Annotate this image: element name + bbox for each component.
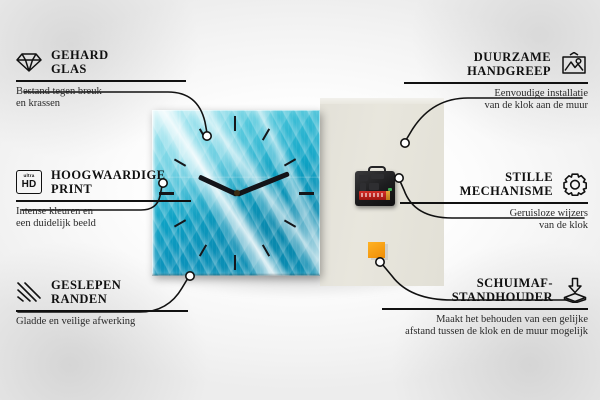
clock-mechanism: [355, 166, 395, 206]
foam-spacer-pad: [368, 242, 385, 258]
gear-icon: [562, 172, 588, 196]
diagonal-lines-icon: [16, 281, 42, 303]
ultra-hd-label: HD: [22, 180, 37, 190]
feature-description: Intense kleuren en een duidelijk beeld: [16, 206, 201, 231]
feature-title: HOOGWAARDIGE PRINT: [51, 168, 165, 196]
feature-duurzame-handgreep[interactable]: DUURZAME HANDGREEP Eenvoudige installati…: [404, 50, 588, 112]
feature-description: Eenvoudige installatie van de klok aan d…: [404, 88, 588, 113]
clock-tick: [299, 192, 314, 195]
clock-tick: [234, 116, 236, 131]
mechanism-housing: [355, 171, 395, 206]
clock-centre-hub: [234, 190, 240, 196]
diamond-icon: [16, 51, 42, 73]
clock-tick: [234, 255, 236, 270]
down-arrow-spacer-icon: [562, 277, 588, 303]
feature-title: GEHARD GLAS: [51, 48, 109, 76]
feature-description: Bestand tegen breuk en krassen: [16, 86, 196, 111]
feature-schuimafstandhouder[interactable]: SCHUIMAF- STANDHOUDER Maakt het behouden…: [382, 276, 588, 338]
infographic-canvas: GEHARD GLAS Bestand tegen breuk en krass…: [0, 0, 600, 400]
feature-description: Gladde en veilige afwerking: [16, 316, 196, 328]
battery-positive-cap: [386, 191, 390, 200]
feature-divider: [16, 80, 186, 82]
feature-divider: [400, 202, 588, 204]
feature-title: DUURZAME HANDGREEP: [467, 50, 551, 78]
feature-title: STILLE MECHANISME: [460, 170, 553, 198]
feature-divider: [16, 200, 191, 202]
feature-title: GESLEPEN RANDEN: [51, 278, 121, 306]
feature-title: SCHUIMAF- STANDHOUDER: [452, 276, 553, 304]
feature-hoogwaardige-print[interactable]: ultra HD HOOGWAARDIGE PRINT Intense kleu…: [16, 168, 201, 230]
feature-geslepen-randen[interactable]: GESLEPEN RANDEN Gladde en veilige afwerk…: [16, 278, 196, 328]
feature-description: Maakt het behouden van een gelijke afsta…: [382, 314, 588, 339]
feature-description: Geruisloze wijzers van de klok: [400, 208, 588, 233]
feature-gehard-glas[interactable]: GEHARD GLAS Bestand tegen breuk en krass…: [16, 48, 196, 110]
battery-label: [361, 193, 383, 197]
ultra-hd-badge-icon: ultra HD: [16, 170, 42, 194]
feature-divider: [382, 308, 588, 310]
feature-divider: [404, 82, 588, 84]
feature-divider: [16, 310, 188, 312]
feature-stille-mechanisme[interactable]: STILLE MECHANISME Geruisloze wijzers van…: [400, 170, 588, 232]
picture-frame-hook-icon: [560, 52, 588, 76]
